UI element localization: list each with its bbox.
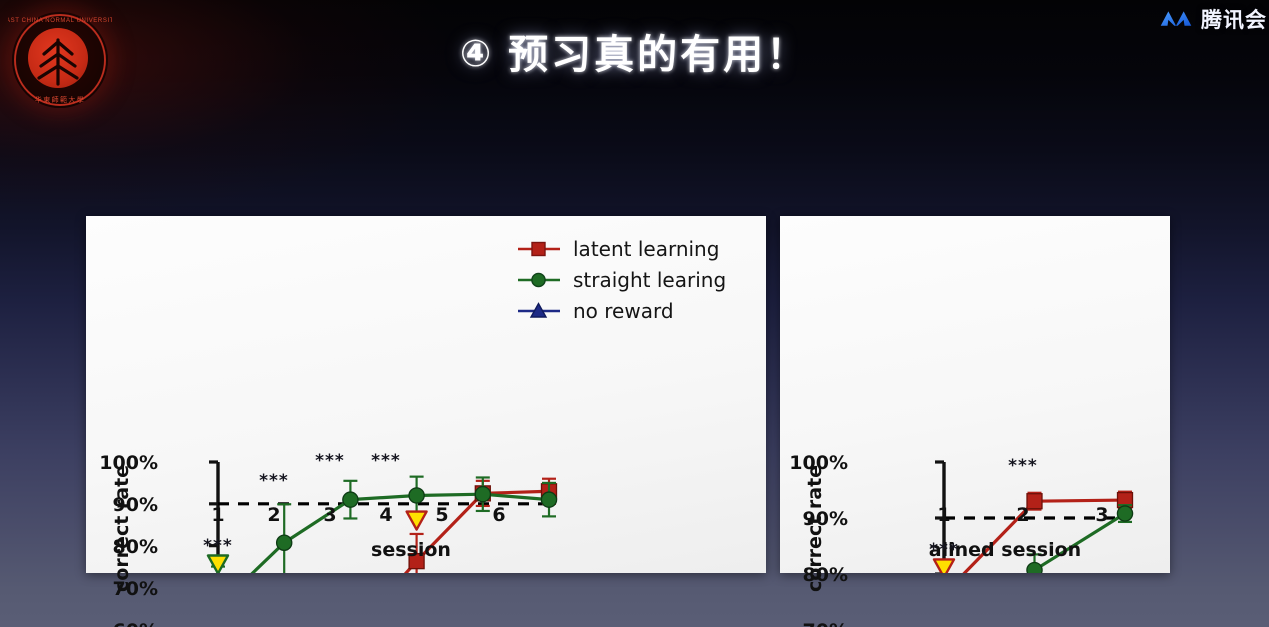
right-ytick-90: 90% [784,508,848,530]
left-xtick-1: 1 [203,504,233,526]
left-annotation-2: *** [244,471,304,491]
right-xtick-3: 3 [1087,504,1117,526]
right-ytick-70: 70% [784,620,848,627]
left-xtick-4: 4 [371,504,401,526]
left-xtick-6: 6 [484,504,514,526]
left-annotation-4: *** [356,451,416,471]
tencent-meeting-logo-icon [1159,7,1193,31]
left-annotation-1: *** [188,536,248,556]
left-ytick-60: 60% [94,620,158,627]
chart-legend: latent learning straight learing [516,233,726,326]
left-x-axis-label: session [286,539,536,561]
legend-label-straight-learing: straight learing [573,268,726,292]
legend-label-no-reward: no reward [573,299,674,323]
tencent-meeting-watermark: 腾讯会 [1159,4,1269,34]
left-plot-area: correct rate session 100% 90% 80% 70% 60… [86,216,766,573]
left-xtick-3: 3 [315,504,345,526]
highlight-down-triangle [407,512,427,530]
highlight-down-triangle [208,555,228,573]
right-ytick-80: 80% [784,564,848,586]
left-xtick-5: 5 [427,504,457,526]
left-ytick-100: 100% [94,452,158,474]
marker-circle [409,488,424,503]
page-title: ④预习真的有用！ [0,22,1269,80]
legend-circle-icon [516,271,562,289]
right-annotation-1: *** [914,540,974,560]
legend-square-icon [516,240,562,258]
chart-panel-right: correct rate alined session 100% 90% 80%… [780,216,1170,573]
marker-circle [541,492,556,507]
marker-circle [343,492,358,507]
title-number: ④ [460,32,494,75]
left-ytick-70: 70% [94,578,158,600]
legend-item-no-reward[interactable]: no reward [516,295,726,326]
left-annotation-3: *** [300,451,360,471]
legend-item-straight-learing[interactable]: straight learing [516,264,726,295]
marker-circle [1117,506,1132,521]
left-ytick-90: 90% [94,494,158,516]
legend-label-latent-learning: latent learning [573,237,719,261]
right-xtick-1: 1 [929,504,959,526]
right-annotation-2: *** [993,456,1053,476]
legend-triangle-icon [516,302,562,320]
title-text: 预习真的有用！ [508,32,809,78]
watermark-text: 腾讯会 [1201,4,1267,34]
highlight-down-triangle [934,559,954,573]
marker-circle [475,487,490,502]
left-xtick-2: 2 [259,504,289,526]
right-ytick-100: 100% [784,452,848,474]
marker-circle [1027,562,1042,573]
right-plot-area: correct rate alined session 100% 90% 80%… [780,216,1170,573]
left-ytick-80: 80% [94,536,158,558]
right-xtick-2: 2 [1008,504,1038,526]
left-y-axis-label: correct rate [111,472,133,592]
slide-canvas: EAST CHINA NORMAL UNIVERSITY 华東師範大學 ④预习真… [0,0,1269,627]
legend-item-latent-learning[interactable]: latent learning [516,233,726,264]
svg-text:华東師範大學: 华東師範大學 [35,95,85,104]
chart-panel-left: correct rate session 100% 90% 80% 70% 60… [86,216,766,573]
